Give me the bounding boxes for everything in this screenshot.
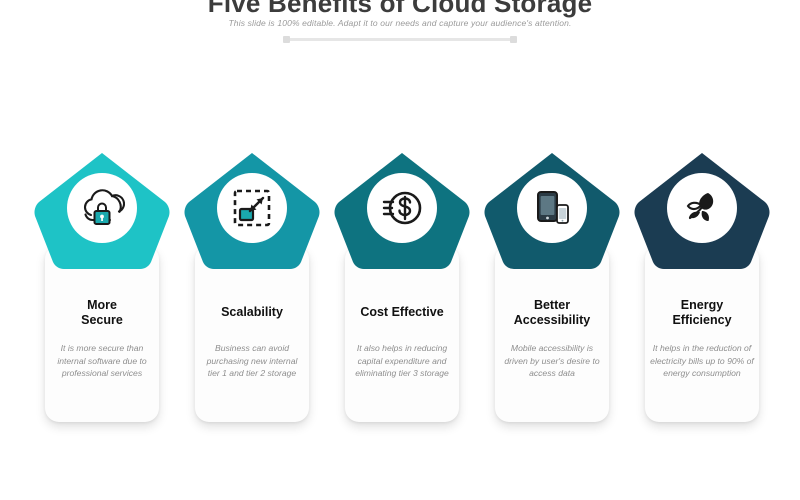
leaf-plant-icon: [682, 188, 722, 228]
card-description: It helps in the reduction of electricity…: [645, 342, 759, 380]
card-icon-circle: [367, 173, 437, 243]
card-title-line-2: Efficiency: [645, 313, 759, 328]
card-title-line-2: Accessibility: [495, 313, 609, 328]
card-title: Energy Efficiency: [645, 298, 759, 328]
card-icon-circle: [217, 173, 287, 243]
benefit-card-energy-efficiency[interactable]: Energy Efficiency It helps in the reduct…: [628, 150, 776, 430]
resize-arrow-icon: [231, 187, 273, 229]
cloud-lock-icon: [79, 187, 125, 229]
card-description: Mobile accessibility is driven by user's…: [495, 342, 609, 380]
decorative-slider[interactable]: [286, 38, 514, 41]
page-title: Five Benefits of Cloud Storage: [0, 0, 800, 16]
card-title: Scalability: [195, 305, 309, 320]
card-title: Better Accessibility: [495, 298, 609, 328]
card-title-line-1: Energy: [645, 298, 759, 313]
card-icon-circle: [517, 173, 587, 243]
slider-handle-right[interactable]: [510, 36, 517, 43]
slide-subtitle: This slide is 100% editable. Adapt it to…: [0, 18, 800, 28]
benefits-card-row: More Secure It is more secure than inter…: [0, 150, 800, 440]
card-icon-circle: [67, 173, 137, 243]
card-description: It also helps in reducing capital expend…: [345, 342, 459, 380]
card-title-line-1: More: [45, 298, 159, 313]
benefit-card-better-accessibility[interactable]: Better Accessibility Mobile accessibilit…: [478, 150, 626, 430]
benefit-card-more-secure[interactable]: More Secure It is more secure than inter…: [28, 150, 176, 430]
card-title: More Secure: [45, 298, 159, 328]
card-description: It is more secure than internal software…: [45, 342, 159, 380]
dollar-coin-icon: [380, 187, 424, 229]
card-title-line-1: Cost Effective: [345, 305, 459, 320]
benefit-card-cost-effective[interactable]: Cost Effective It also helps in reducing…: [328, 150, 476, 430]
slider-handle-left[interactable]: [283, 36, 290, 43]
card-title: Cost Effective: [345, 305, 459, 320]
mobile-devices-icon: [532, 188, 572, 228]
card-description: Business can avoid purchasing new intern…: [195, 342, 309, 380]
card-title-line-1: Scalability: [195, 305, 309, 320]
card-icon-circle: [667, 173, 737, 243]
card-title-line-1: Better: [495, 298, 609, 313]
benefit-card-scalability[interactable]: Scalability Business can avoid purchasin…: [178, 150, 326, 430]
card-title-line-2: Secure: [45, 313, 159, 328]
